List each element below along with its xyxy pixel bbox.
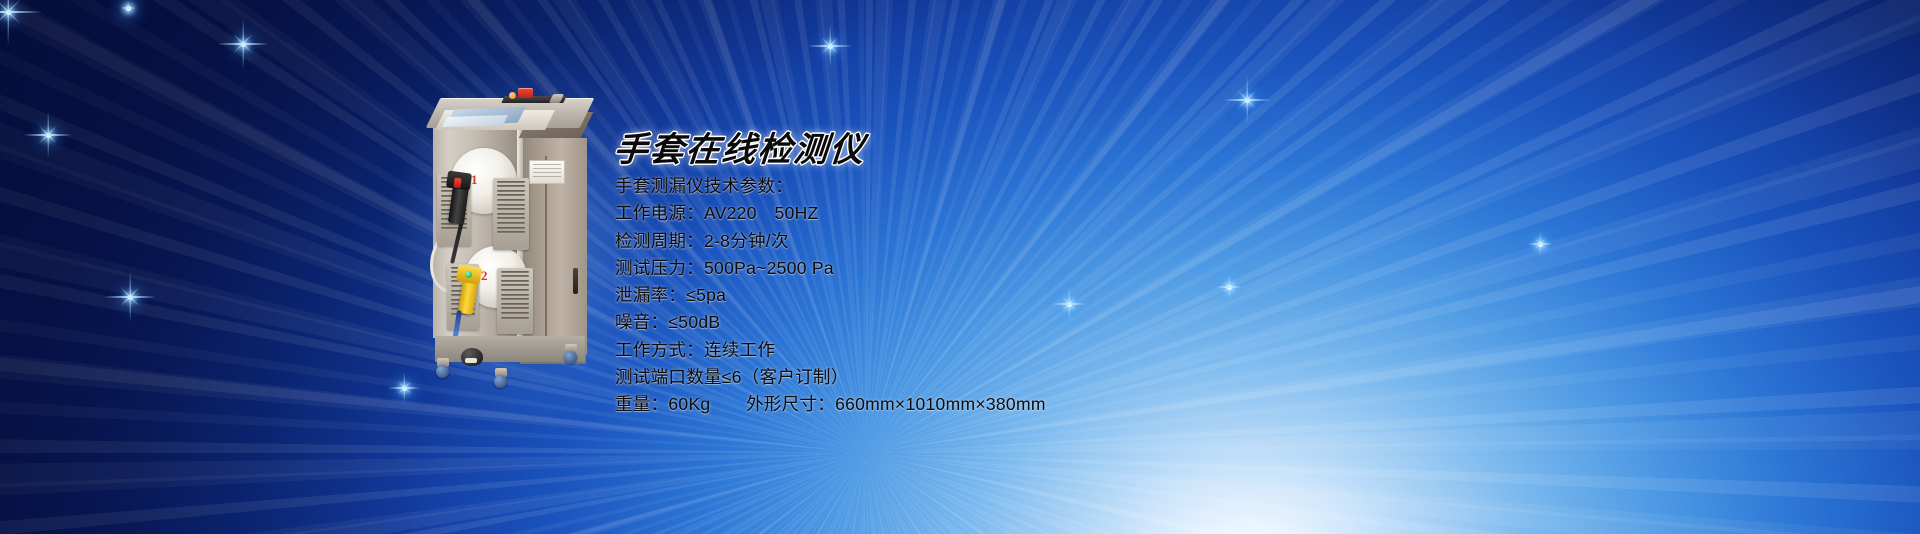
vent-slat: [497, 194, 525, 196]
cabinet-base: [435, 336, 585, 362]
vent-slat: [501, 271, 529, 273]
indicator-lamp-icon: [509, 92, 516, 99]
spec-line: 测试压力：500Pa~2500 Pa: [615, 255, 1515, 282]
vent-slat: [501, 284, 529, 286]
spec-line: 工作电源：AV220 50HZ: [615, 200, 1515, 227]
spec-line: 泄漏率：≤5pa: [615, 282, 1515, 309]
vent-slat: [501, 280, 529, 282]
vent-slat: [501, 298, 529, 300]
vent-slat: [497, 217, 525, 219]
spec-plate: [529, 160, 565, 184]
vent-slat: [497, 227, 525, 229]
base-valve-tip: [465, 358, 477, 363]
vent-slat: [497, 204, 525, 206]
vent-slat: [497, 208, 525, 210]
probe-red-trigger: [453, 178, 461, 189]
vent-slat: [497, 181, 525, 183]
disc-mark-1: 1: [471, 172, 478, 188]
emergency-stop-button: [518, 88, 533, 98]
cabinet-door-handle: [573, 268, 578, 294]
promo-banner: 1 2 手套在线检测仪 手套测漏仪技术参数： 工作电源：AV220 50HZ检测…: [0, 0, 1920, 534]
spec-line: 工作方式：连续工作: [615, 337, 1515, 364]
probe-green-indicator: [465, 271, 472, 278]
cabinet-door-seam: [545, 156, 547, 346]
spec-line: 重量：60Kg 外形尺寸：660mm×1010mm×380mm: [615, 391, 1515, 418]
vent-slat: [501, 294, 529, 296]
base-valve-knob: [461, 348, 483, 366]
product-image: 1 2: [425, 86, 625, 392]
vent-slat: [501, 303, 529, 305]
vent-slat: [497, 185, 525, 187]
page-title: 手套在线检测仪: [612, 122, 868, 171]
vent-slat: [501, 317, 529, 319]
vent-slat: [501, 307, 529, 309]
vent-slat: [501, 312, 529, 314]
vent-grille-4: [497, 268, 533, 334]
vent-slat: [501, 275, 529, 277]
vent-slat: [441, 227, 467, 229]
vent-slat: [497, 190, 525, 192]
vent-slat: [497, 199, 525, 201]
spec-heading: 手套测漏仪技术参数：: [615, 173, 1515, 200]
disc-mark-2: 2: [481, 268, 488, 284]
vent-slat: [497, 213, 525, 215]
spec-line: 噪音：≤50dB: [615, 309, 1515, 336]
vent-slat: [497, 222, 525, 224]
caster-front-left: [436, 365, 449, 378]
spec-list: 手套测漏仪技术参数： 工作电源：AV220 50HZ检测周期：2-8分钟/次测试…: [615, 173, 1515, 419]
caster-front-right: [494, 375, 507, 388]
spec-line: 检测周期：2-8分钟/次: [615, 228, 1515, 255]
caster-rear-right: [564, 351, 577, 364]
vent-grille-2: [493, 178, 529, 250]
vent-slat: [501, 289, 529, 291]
spec-line: 测试端口数量≤6（客户订制）: [615, 364, 1515, 391]
vent-slat: [497, 231, 525, 233]
